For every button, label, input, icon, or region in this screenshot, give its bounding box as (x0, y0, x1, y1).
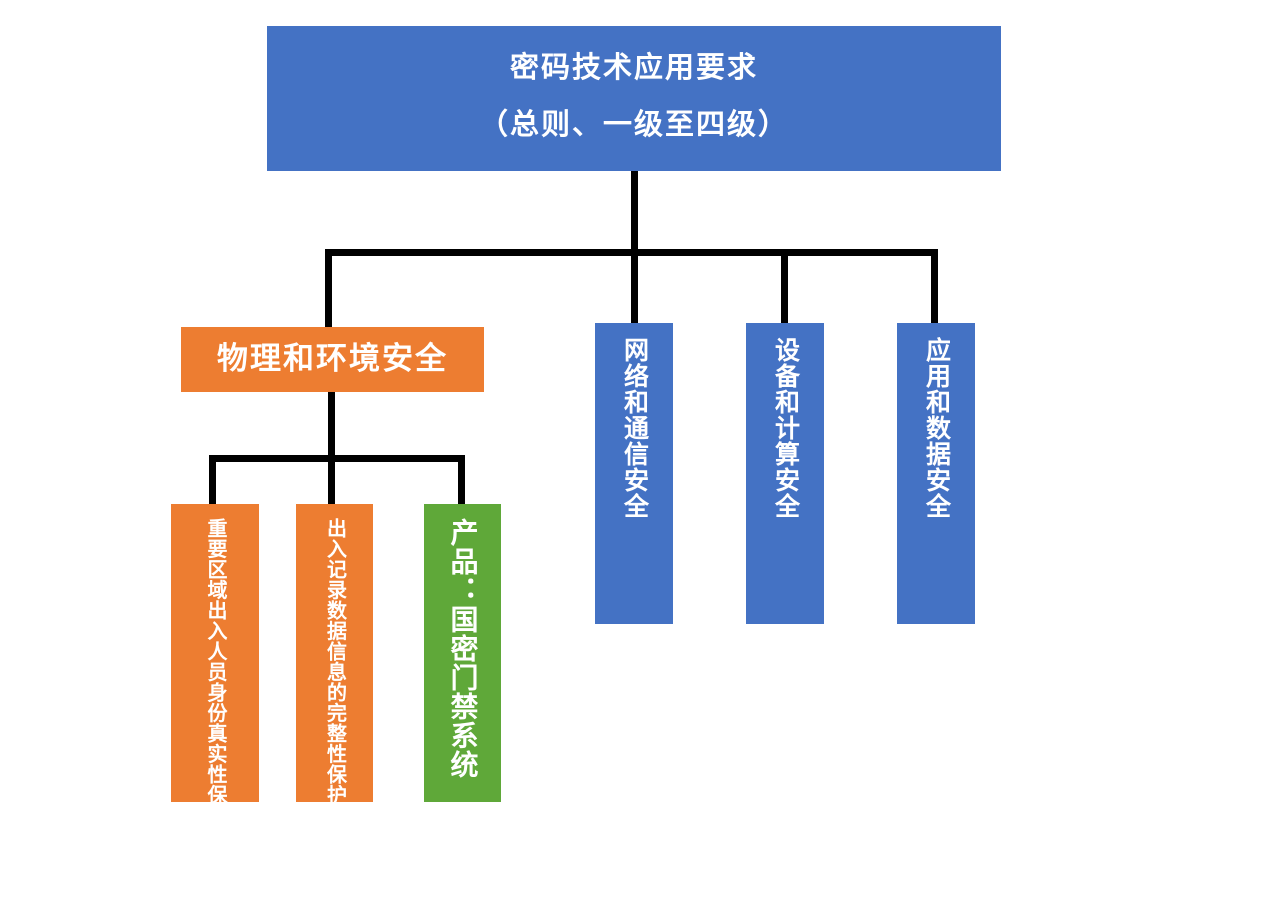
node-device-label: 设备和计算安全 (773, 337, 798, 519)
connector-physical-stem (328, 392, 335, 458)
node-root-line2: （总则、一级至四级） (479, 109, 789, 141)
connector-drop-product (458, 455, 465, 504)
connector-drop-network (631, 249, 638, 323)
node-physical-label: 物理和环境安全 (217, 342, 448, 377)
node-area-personnel-identity-protection[interactable]: 重要区域出入人员身份真实性保护 (171, 504, 259, 802)
node-root-line1: 密码技术应用要求 (510, 52, 758, 84)
connector-drop-device (781, 249, 788, 323)
connector-level3-bar (209, 455, 465, 462)
node-root-crypto-requirements[interactable]: 密码技术应用要求 （总则、一级至四级） (267, 26, 1001, 171)
node-network-label: 网络和通信安全 (622, 337, 647, 519)
diagram-canvas: 密码技术应用要求 （总则、一级至四级） 物理和环境安全 网络和通信安全 设备和计… (0, 0, 1280, 904)
connector-drop-appdata (931, 249, 938, 323)
connector-root-stem (631, 171, 638, 255)
node-area-id-label: 重要区域出入人员身份真实性保护 (205, 518, 225, 802)
node-record-integrity-label: 出入记录数据信息的完整性保护 (325, 518, 345, 802)
connector-drop-physical (325, 249, 332, 327)
node-device-computing-security[interactable]: 设备和计算安全 (746, 323, 824, 624)
connector-drop-area-id (209, 455, 216, 504)
node-access-record-integrity-protection[interactable]: 出入记录数据信息的完整性保护 (296, 504, 373, 802)
node-network-communication-security[interactable]: 网络和通信安全 (595, 323, 673, 624)
node-physical-environment-security[interactable]: 物理和环境安全 (181, 327, 484, 392)
connector-drop-record-integrity (328, 455, 335, 504)
node-product-guomi-access-control-system[interactable]: 产品：国密门禁系统 (424, 504, 501, 802)
node-appdata-label: 应用和数据安全 (924, 337, 949, 519)
node-application-data-security[interactable]: 应用和数据安全 (897, 323, 975, 624)
node-product-label: 产品：国密门禁系统 (449, 518, 477, 779)
